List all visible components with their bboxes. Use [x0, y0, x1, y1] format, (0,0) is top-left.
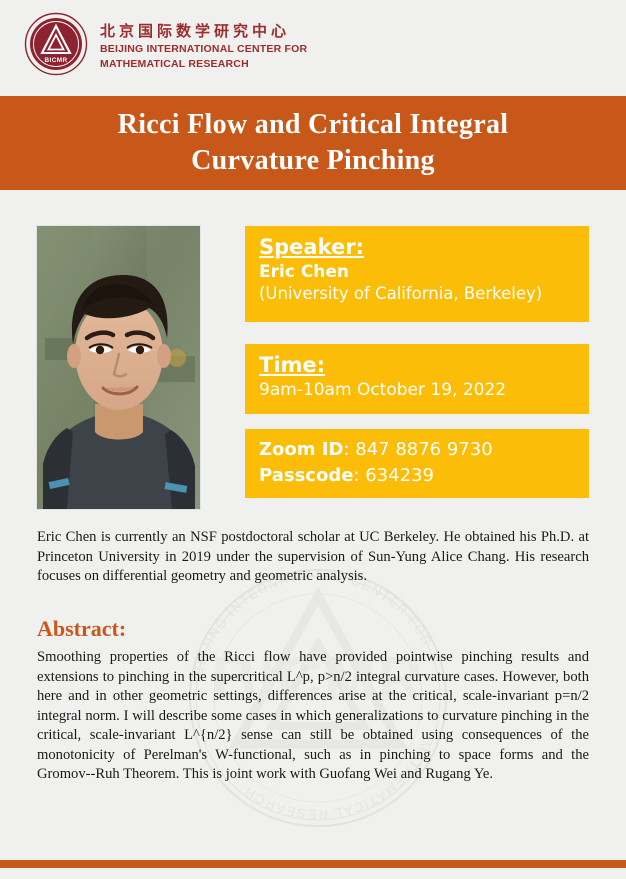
- time-value: 9am-10am October 19, 2022: [259, 379, 575, 401]
- zoom-passcode-separator: :: [353, 465, 365, 486]
- speaker-heading: Speaker:: [259, 234, 364, 261]
- zoom-passcode-label: Passcode: [259, 465, 353, 486]
- title-banner: Ricci Flow and Critical Integral Curvatu…: [0, 96, 626, 190]
- speaker-name: Eric Chen: [259, 261, 575, 283]
- page-title-line1: Ricci Flow and Critical Integral: [40, 107, 586, 143]
- speaker-photo: [37, 226, 200, 509]
- bicmr-seal-logo-icon: BICMR: [24, 12, 88, 76]
- time-info-box: Time: 9am-10am October 19, 2022: [245, 344, 589, 414]
- zoom-passcode-row: Passcode: 634239: [259, 463, 575, 489]
- zoom-id-row: Zoom ID: 847 8876 9730: [259, 437, 575, 463]
- zoom-info-box: Zoom ID: 847 8876 9730 Passcode: 634239: [245, 429, 589, 498]
- time-heading: Time:: [259, 352, 325, 379]
- org-name-chinese: 北京国际数学研究中心: [100, 20, 290, 41]
- zoom-passcode-value: 634239: [365, 465, 434, 486]
- poster-page: BEIJING INTERNATIONAL CENTER FOR MATHEMA…: [0, 0, 626, 879]
- zoom-id-label: Zoom ID: [259, 439, 343, 460]
- svg-text:BICMR: BICMR: [45, 57, 68, 64]
- speaker-info-box: Speaker: Eric Chen (University of Califo…: [245, 226, 589, 322]
- page-title-line2: Curvature Pinching: [40, 143, 586, 179]
- abstract-heading: Abstract:: [37, 616, 126, 642]
- speaker-affiliation: (University of California, Berkeley): [259, 283, 575, 304]
- bottom-accent-bar: [0, 860, 626, 868]
- zoom-id-separator: :: [343, 439, 355, 460]
- page-header: BICMR 北京国际数学研究中心 BEIJING INTERNATIONAL C…: [0, 0, 626, 96]
- abstract-body: Smoothing properties of the Ricci flow h…: [37, 648, 589, 785]
- speaker-biography: Eric Chen is currently an NSF postdoctor…: [37, 528, 589, 587]
- page-title: Ricci Flow and Critical Integral Curvatu…: [0, 107, 626, 180]
- zoom-id-value: 847 8876 9730: [355, 439, 492, 460]
- org-name-english-line1: BEIJING INTERNATIONAL CENTER FOR: [100, 43, 307, 55]
- org-name-english-line2: MATHEMATICAL RESEARCH: [100, 58, 249, 70]
